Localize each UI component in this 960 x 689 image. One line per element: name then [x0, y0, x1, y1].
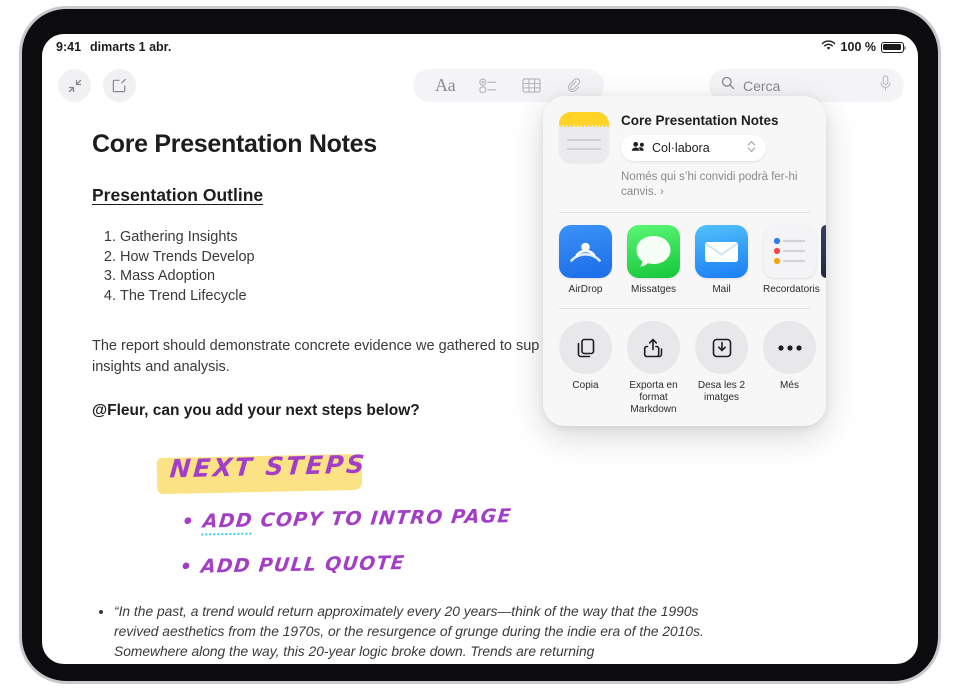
people-icon: [631, 141, 646, 155]
share-app-mail[interactable]: Mail: [695, 225, 748, 296]
save-image-icon: [695, 321, 748, 374]
share-app-label: Recordatoris: [763, 284, 816, 296]
share-app-label: AirDrop: [559, 284, 612, 296]
handwriting-bullet-1-rest: COPY TO INTRO PAGE: [252, 505, 513, 532]
body-paragraph-line1: The report should demonstrate concrete e…: [92, 338, 539, 354]
share-app-airdrop[interactable]: AirDrop: [559, 225, 612, 296]
microphone-icon[interactable]: [879, 75, 892, 96]
share-app-messages[interactable]: Missatges: [627, 225, 680, 296]
handwriting-title: NEXT STEPS: [169, 450, 368, 484]
wifi-icon: [821, 40, 836, 54]
collapse-arrows-icon[interactable]: [58, 69, 91, 102]
share-sheet: Core Presentation Notes Col·labora Només…: [543, 96, 826, 426]
chevron-up-down-icon: [747, 140, 756, 156]
search-input[interactable]: Cerca: [743, 78, 780, 94]
status-time: 9:41: [56, 40, 81, 54]
text-format-button[interactable]: Aa: [435, 75, 455, 96]
action-copy[interactable]: Copia: [559, 321, 612, 416]
share-permission-note[interactable]: Només qui s’hi convidi podrà fer-hi canv…: [543, 162, 826, 200]
export-icon: [627, 321, 680, 374]
share-title: Core Presentation Notes: [621, 113, 779, 128]
status-bar: 9:41 dimarts 1 abr. 100 %: [42, 34, 918, 60]
device-frame: 9:41 dimarts 1 abr. 100 % Aa: [22, 9, 938, 681]
airdrop-icon: [559, 225, 612, 278]
handwriting-bullet-1-underlined: ADD: [201, 510, 254, 536]
share-app-label: Missatges: [627, 284, 680, 296]
reminders-icon: [763, 225, 816, 278]
share-apps-row: AirDrop Missatges Mail Recordatoris: [543, 213, 826, 296]
handwriting-area: NEXT STEPS • ADD COPY TO INTRO PAGE • AD…: [92, 446, 872, 596]
more-ellipsis-icon: [763, 321, 816, 374]
collaborate-label: Col·labora: [652, 141, 710, 155]
screen: 9:41 dimarts 1 abr. 100 % Aa: [42, 34, 918, 664]
action-more[interactable]: Més: [763, 321, 816, 416]
share-sheet-header: Core Presentation Notes Col·labora: [543, 96, 826, 162]
action-label: Copia: [559, 380, 612, 392]
compose-icon[interactable]: [103, 69, 136, 102]
action-label: Exporta en format Markdown: [627, 380, 680, 416]
messages-icon: [627, 225, 680, 278]
mail-icon: [695, 225, 748, 278]
action-save-images[interactable]: Desa les 2 imatges: [695, 321, 748, 416]
handwriting-bullet-2-text: ADD PULL QUOTE: [200, 552, 406, 578]
search-icon: [721, 76, 735, 95]
action-label: Més: [763, 380, 816, 392]
body-paragraph-line2: insights and analysis.: [92, 359, 230, 375]
share-app-reminders[interactable]: Recordatoris: [763, 225, 816, 296]
checklist-icon[interactable]: [479, 78, 498, 94]
share-app-peek-icon[interactable]: [821, 225, 826, 278]
action-export-markdown[interactable]: Exporta en format Markdown: [627, 321, 680, 416]
collaborate-dropdown[interactable]: Col·labora: [621, 135, 766, 161]
action-label: Desa les 2 imatges: [695, 380, 748, 404]
handwriting-bullet-1: • ADD COPY TO INTRO PAGE: [181, 505, 513, 533]
notes-app-icon: [559, 112, 609, 162]
quote-text: “In the past, a trend would return appro…: [114, 602, 729, 662]
table-icon[interactable]: [522, 77, 541, 94]
handwriting-bullet-2: • ADD PULL QUOTE: [179, 552, 406, 578]
status-date: dimarts 1 abr.: [90, 40, 171, 54]
copy-icon: [559, 321, 612, 374]
share-app-label: Mail: [695, 284, 748, 296]
share-actions-row: Copia Exporta en format Markdown Desa le…: [543, 309, 826, 416]
quote-list: “In the past, a trend would return appro…: [92, 602, 872, 662]
battery-percent: 100 %: [841, 40, 876, 54]
battery-full-icon: [881, 42, 904, 53]
paperclip-icon[interactable]: [565, 77, 582, 95]
